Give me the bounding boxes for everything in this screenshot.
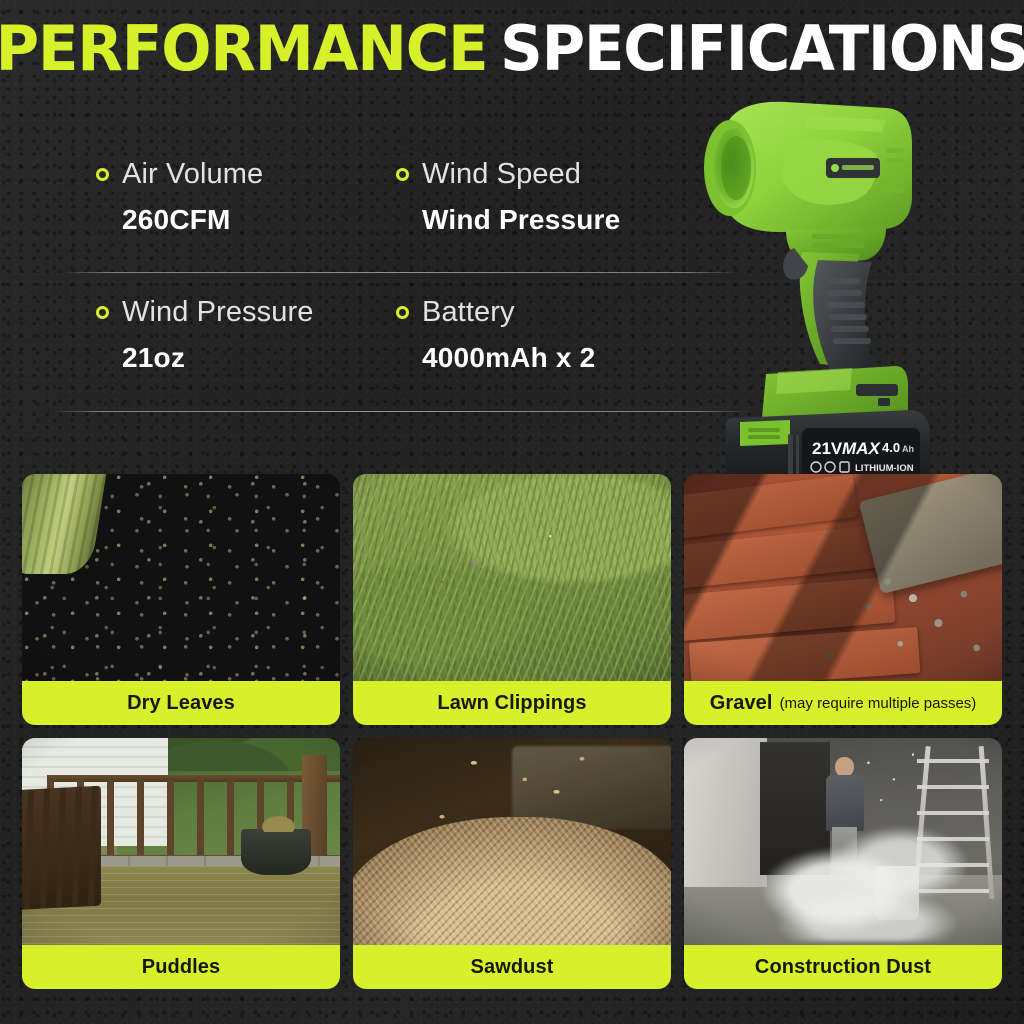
spec-label-row: Wind Pressure xyxy=(96,298,396,327)
svg-text:21V: 21V xyxy=(812,439,843,458)
photo-puddles xyxy=(22,738,340,945)
spec-item-wind-speed: Wind Speed Wind Pressure xyxy=(396,160,696,272)
caption-text: Lawn Clippings xyxy=(437,692,586,715)
application-tiles-grid: Dry Leaves Lawn Clippings xyxy=(22,474,1002,989)
page-title-rest: SPECIFICATIONS xyxy=(500,12,1024,85)
specifications-list: Air Volume 260CFM Wind Speed Wind Pressu… xyxy=(96,160,696,410)
spec-value-text: 260CFM xyxy=(122,206,396,234)
spec-row-1: Air Volume 260CFM Wind Speed Wind Pressu… xyxy=(96,160,696,272)
spec-divider-top xyxy=(62,272,740,273)
spec-label-text: Wind Pressure xyxy=(122,298,313,327)
spec-value-text: 4000mAh x 2 xyxy=(422,344,696,372)
caption-puddles: Puddles xyxy=(22,945,340,989)
page-title-highlight: PERFORMANCE xyxy=(0,12,488,85)
spec-value-text: 21oz xyxy=(122,344,396,372)
spec-value-text: Wind Pressure xyxy=(422,206,696,234)
caption-text: Sawdust xyxy=(471,956,554,979)
caption-dry-leaves: Dry Leaves xyxy=(22,681,340,725)
spec-row-2: Wind Pressure 21oz Battery 4000mAh x 2 xyxy=(96,298,696,410)
caption-note: (may require multiple passes) xyxy=(780,695,977,712)
photo-lawn-clippings xyxy=(353,474,671,681)
svg-text:Ah: Ah xyxy=(902,444,914,454)
caption-construction-dust: Construction Dust xyxy=(684,945,1002,989)
page-title: PERFORMANCESPECIFICATIONS xyxy=(0,18,1024,80)
spec-label-text: Wind Speed xyxy=(422,160,581,189)
photo-sawdust xyxy=(353,738,671,945)
spec-label-row: Wind Speed xyxy=(396,160,696,189)
svg-text:4.0: 4.0 xyxy=(882,440,900,455)
circle-outline-icon xyxy=(96,306,109,319)
spec-divider-bottom xyxy=(52,411,752,412)
tile-lawn-clippings[interactable]: Lawn Clippings xyxy=(353,474,671,725)
spec-label-row: Battery xyxy=(396,298,696,327)
tile-gravel[interactable]: Gravel (may require multiple passes) xyxy=(684,474,1002,725)
spec-item-wind-pressure: Wind Pressure 21oz xyxy=(96,298,396,410)
spec-label-text: Battery xyxy=(422,298,515,327)
photo-gravel xyxy=(684,474,1002,681)
product-image-blower: 21V MAX 4.0 Ah LITHIUM-ION xyxy=(690,92,1020,502)
tile-sawdust[interactable]: Sawdust xyxy=(353,738,671,989)
tile-construction-dust[interactable]: Construction Dust xyxy=(684,738,1002,989)
caption-text: Dry Leaves xyxy=(127,692,235,715)
svg-text:LITHIUM-ION: LITHIUM-ION xyxy=(855,463,914,474)
caption-sawdust: Sawdust xyxy=(353,945,671,989)
caption-lawn-clippings: Lawn Clippings xyxy=(353,681,671,725)
caption-text: Puddles xyxy=(142,956,221,979)
svg-text:MAX: MAX xyxy=(842,439,881,458)
caption-gravel: Gravel (may require multiple passes) xyxy=(684,681,1002,725)
infographic-page: PERFORMANCESPECIFICATIONS Air Volume 260… xyxy=(0,0,1024,1024)
spec-label-row: Air Volume xyxy=(96,160,396,189)
caption-text: Gravel xyxy=(710,692,773,715)
spec-item-air-volume: Air Volume 260CFM xyxy=(96,160,396,272)
circle-outline-icon xyxy=(396,168,409,181)
spec-label-text: Air Volume xyxy=(122,160,263,189)
tile-puddles[interactable]: Puddles xyxy=(22,738,340,989)
spec-item-battery: Battery 4000mAh x 2 xyxy=(396,298,696,410)
circle-outline-icon xyxy=(396,306,409,319)
tile-dry-leaves[interactable]: Dry Leaves xyxy=(22,474,340,725)
circle-outline-icon xyxy=(96,168,109,181)
photo-dry-leaves xyxy=(22,474,340,681)
photo-construction-dust xyxy=(684,738,1002,945)
caption-text: Construction Dust xyxy=(755,956,931,979)
